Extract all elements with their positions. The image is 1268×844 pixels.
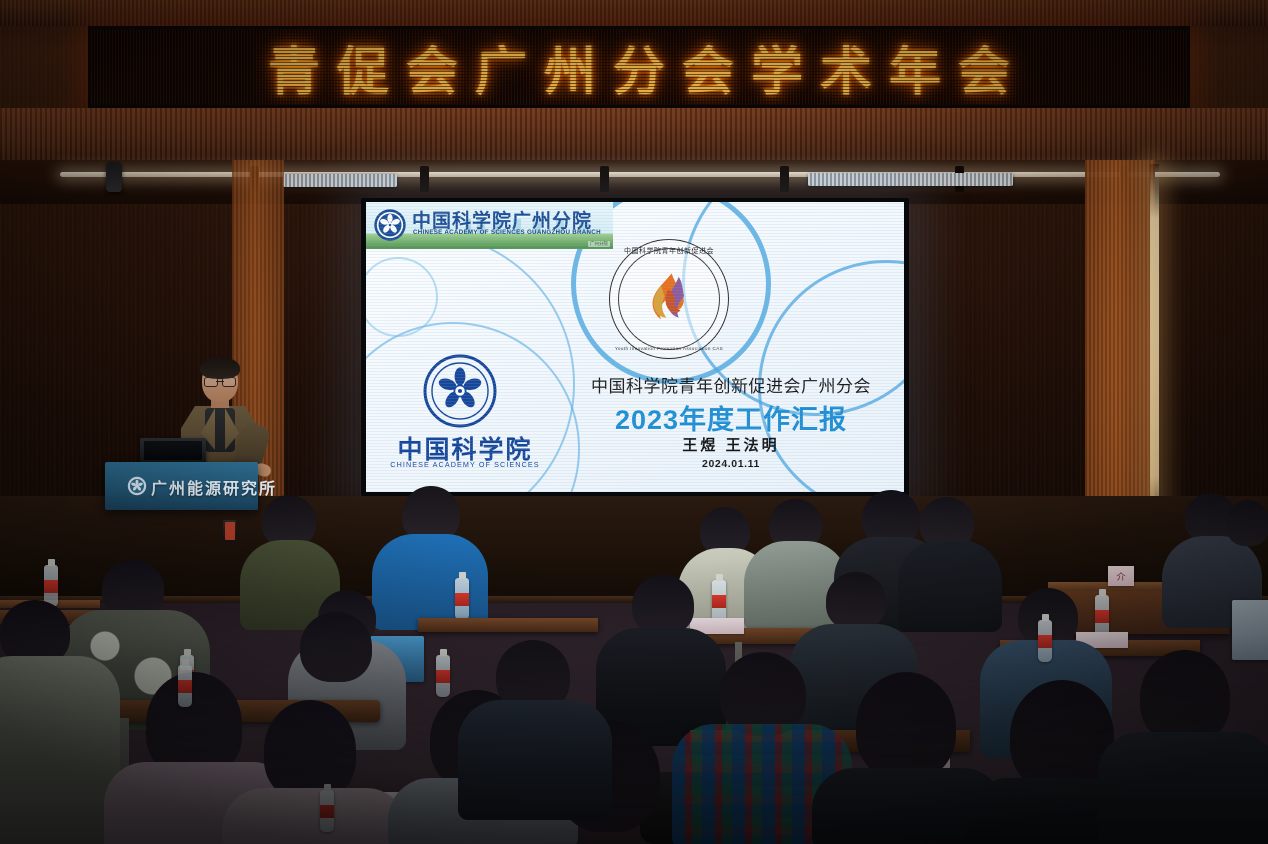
water-bottle <box>712 580 726 622</box>
upper-wood-trim <box>0 0 1268 26</box>
slide-title: 2023年度工作汇报 <box>562 398 900 437</box>
presenter-hair <box>200 357 240 379</box>
emblem-flame-mark <box>638 268 700 330</box>
slide-organization: 中国科学院青年创新促进会广州分会 <box>562 372 900 397</box>
slide-header-banner: 中国科学院广州分院 CHINESE ACADEMY OF SCIENCES GU… <box>366 202 613 249</box>
table-placard: 介 <box>1108 566 1134 586</box>
podium: 广州能源研究所 <box>105 462 258 510</box>
water-bottle <box>455 578 469 620</box>
water-bottle <box>178 665 192 707</box>
placard-text: 介 <box>1108 570 1134 583</box>
audience-laptop[interactable] <box>1232 600 1268 660</box>
cas-english-name: CHINESE ACADEMY OF SCIENCES <box>389 460 541 469</box>
audience-head <box>826 572 886 630</box>
ceiling-vent <box>283 174 397 187</box>
emblem-english-ring-text: Youth Innovation Promotion Association C… <box>609 346 729 351</box>
water-bottle <box>1095 595 1109 637</box>
banner-english-title: CHINESE ACADEMY OF SCIENCES GUANGZHOU BR… <box>413 229 601 236</box>
audience-body <box>1098 732 1268 844</box>
water-bottle <box>436 655 450 697</box>
ceiling-speaker-icon <box>106 162 122 192</box>
ceiling-beam <box>420 166 429 192</box>
led-marquee-banner: 青促会广州分会学术年会 <box>88 26 1190 108</box>
cas-seal-icon <box>423 354 497 428</box>
audience-body <box>222 788 408 844</box>
led-banner-text: 青促会广州分会学术年会 <box>91 30 1187 105</box>
mobile-phone[interactable] <box>223 520 236 542</box>
audience-body <box>0 656 120 844</box>
emblem-chinese-ring-text: 中国科学院青年创新促进会 <box>609 246 729 256</box>
lecture-hall-photo: 青促会广州分会学术年会 <box>0 0 1268 844</box>
podium-label: 广州能源研究所 <box>151 475 277 499</box>
ceiling-vent <box>808 173 1013 186</box>
audience-head <box>856 672 956 780</box>
glasses-icon <box>204 377 236 385</box>
audience-head <box>1140 650 1230 744</box>
audience-body <box>898 540 1002 632</box>
audience-body <box>458 700 612 820</box>
cas-logo-block: 中国科学院 CHINESE ACADEMY OF SCIENCES <box>389 354 541 474</box>
banner-corner-tag: 广州分院 <box>588 241 610 247</box>
mid-wood-trim <box>0 108 1268 160</box>
audience-desk <box>418 618 598 632</box>
slide-authors: 王煜 王法明 <box>562 434 900 455</box>
institute-seal-icon <box>127 476 147 496</box>
audience-head <box>264 700 356 800</box>
audience-head <box>146 672 242 776</box>
audience-head <box>1226 500 1268 546</box>
audience-body <box>372 534 488 630</box>
yipa-emblem-icon: 中国科学院青年创新促进会 Youth Innovation Promotion … <box>609 239 729 359</box>
audience-head <box>300 612 372 682</box>
slide-date: 2024.01.11 <box>562 458 900 470</box>
audience-head <box>632 575 694 635</box>
podium-laptop <box>140 438 206 464</box>
water-bottle <box>320 790 334 832</box>
projection-screen-frame: 中国科学院广州分院 CHINESE ACADEMY OF SCIENCES GU… <box>361 198 909 496</box>
ceiling-beam <box>780 166 789 192</box>
projection-screen: 中国科学院广州分院 CHINESE ACADEMY OF SCIENCES GU… <box>366 202 904 492</box>
ceiling-beam <box>600 166 609 192</box>
water-bottle <box>1038 620 1052 662</box>
cas-seal-icon <box>373 208 407 242</box>
water-bottle <box>44 565 58 607</box>
